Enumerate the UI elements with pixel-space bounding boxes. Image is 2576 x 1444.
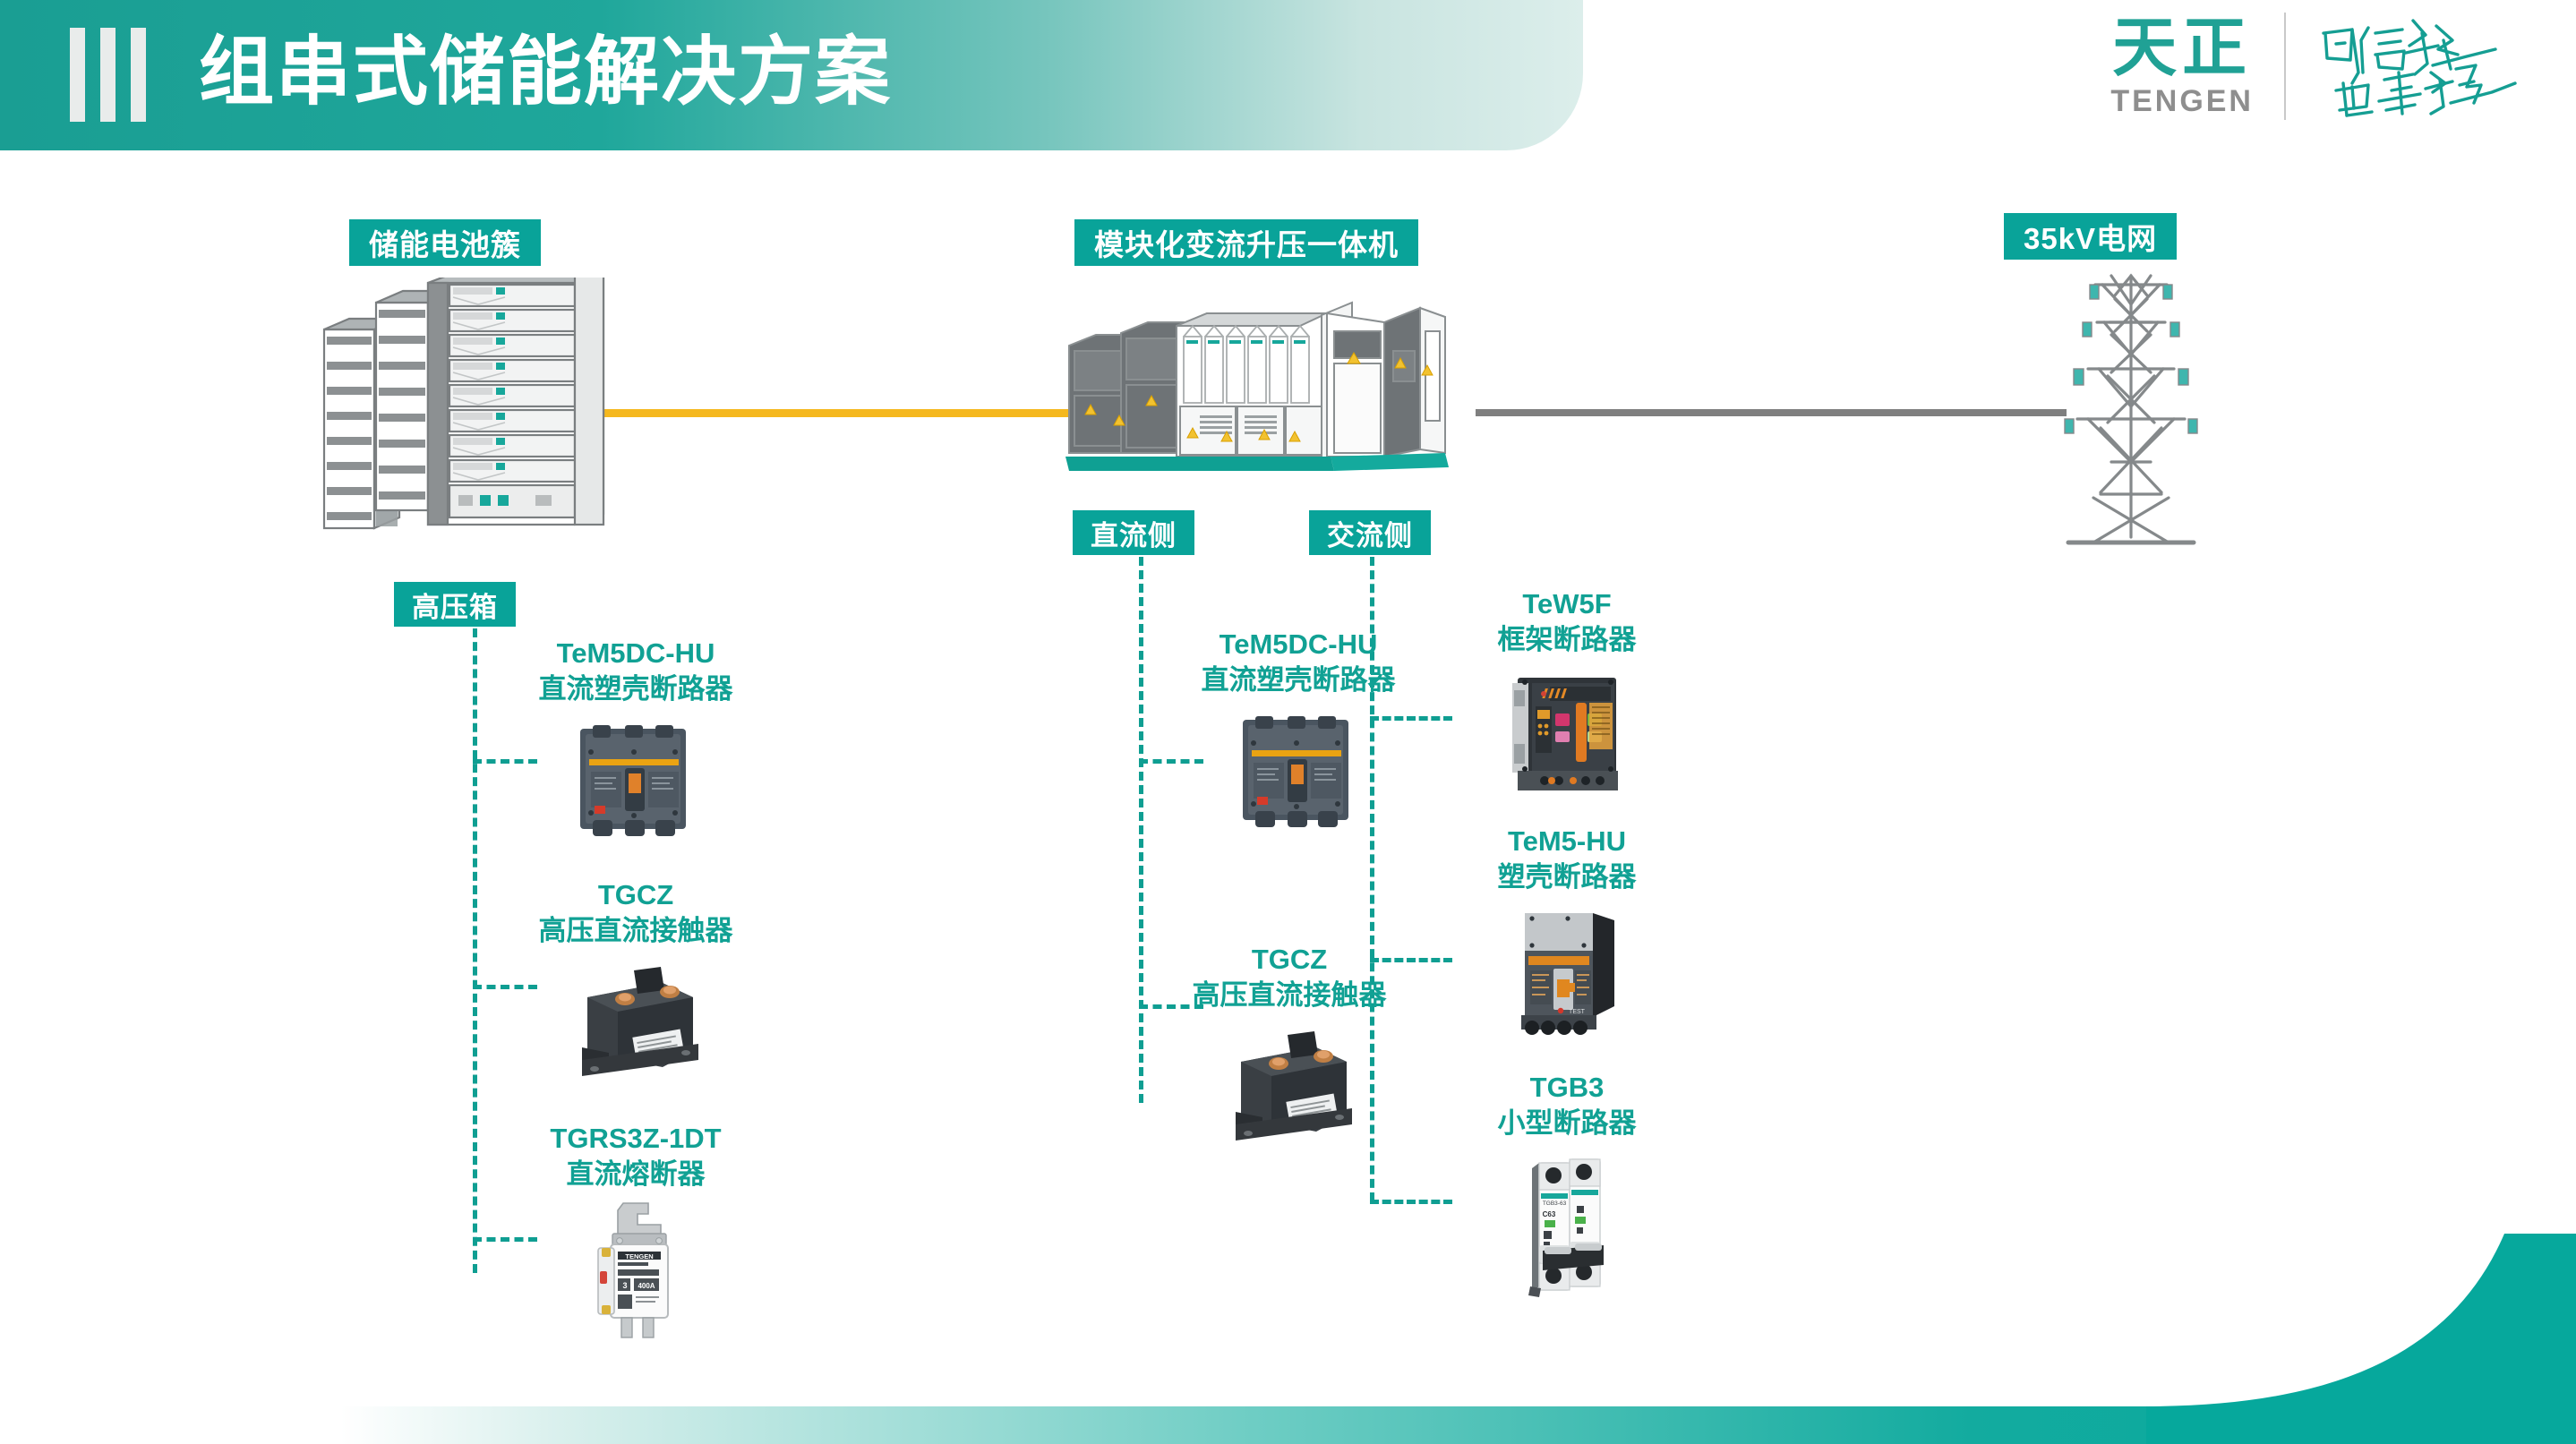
- brand-slogan-handwriting: [2316, 13, 2522, 119]
- bottom-right-corner-decoration: [2146, 1234, 2576, 1444]
- page-header: 组串式储能解决方案: [0, 0, 1583, 150]
- product-model: TeM5DC-HU: [501, 636, 770, 671]
- label-high-voltage-box: 高压箱: [394, 582, 516, 627]
- slide-canvas: 组串式储能解决方案 天正 TENGEN: [0, 0, 2576, 1444]
- product-model: TGCZ: [1155, 942, 1424, 978]
- product-description: 直流塑壳断路器: [1164, 662, 1433, 698]
- product-card[interactable]: TGCZ 高压直流接触器: [501, 877, 770, 1093]
- ac-bus-line: [1476, 409, 2067, 416]
- page-title: 组串式储能解决方案: [199, 21, 892, 122]
- label-battery-cluster: 储能电池簇: [349, 219, 541, 266]
- dc-column-trunk: [1139, 557, 1143, 1103]
- logo-english-name: TENGEN: [2110, 83, 2254, 119]
- product-description: 小型断路器: [1442, 1106, 1692, 1141]
- svg-text:3: 3: [622, 1281, 627, 1290]
- logo-chinese-name: 天正: [2112, 13, 2252, 83]
- svg-text:TGB3-63: TGB3-63: [1543, 1200, 1567, 1207]
- product-description: 直流塑壳断路器: [501, 671, 770, 707]
- three-bars-icon: [70, 28, 146, 122]
- converter-container-illustration: [1065, 295, 1486, 506]
- product-card[interactable]: TeM5DC-HU 直流塑壳断路器: [1164, 627, 1433, 842]
- product-model: TeM5DC-HU: [1164, 627, 1433, 662]
- dc-mccb-icon: [501, 713, 770, 851]
- battery-cluster-illustration: [322, 278, 609, 577]
- label-ac-side: 交流侧: [1309, 510, 1431, 555]
- battery-column-trunk: [473, 628, 477, 1273]
- svg-text:TEST: TEST: [1569, 1009, 1586, 1015]
- label-grid: 35kV电网: [2004, 213, 2177, 260]
- product-description: 框架断路器: [1442, 622, 1692, 658]
- svg-text:400A: 400A: [638, 1282, 655, 1290]
- ac-branch-3: [1370, 1200, 1452, 1204]
- label-converter: 模块化变流升压一体机: [1074, 219, 1418, 266]
- product-card[interactable]: TGRS3Z-1DT 直流熔断器 TENGEN 3 400A: [501, 1121, 770, 1346]
- brand-logo: 天正 TENGEN: [2110, 13, 2522, 120]
- dc-mccb-icon: [1164, 704, 1433, 842]
- product-description: 塑壳断路器: [1442, 859, 1692, 895]
- mccb-icon: TEST: [1442, 901, 1692, 1048]
- svg-text:C63: C63: [1543, 1210, 1556, 1218]
- label-dc-side: 直流侧: [1073, 510, 1194, 555]
- logo-divider: [2284, 13, 2286, 120]
- product-description: 高压直流接触器: [501, 913, 770, 949]
- product-description: 直流熔断器: [501, 1157, 770, 1192]
- transmission-tower-illustration: [2033, 269, 2229, 560]
- mcb-icon: TGB3-63 C63: [1442, 1147, 1692, 1308]
- dc-contactor-icon: [1155, 1019, 1424, 1158]
- product-card[interactable]: TeM5-HU 塑壳断路器 TEST: [1442, 824, 1692, 1048]
- product-model: TGB3: [1442, 1070, 1692, 1106]
- product-card[interactable]: TGCZ 高压直流接触器: [1155, 942, 1424, 1158]
- svg-text:TENGEN: TENGEN: [625, 1252, 653, 1260]
- dc-bus-line: [582, 409, 1083, 417]
- logo-mark: 天正 TENGEN: [2110, 13, 2254, 119]
- product-model: TGCZ: [501, 877, 770, 913]
- product-model: TeW5F: [1442, 586, 1692, 622]
- dc-fuse-icon: TENGEN 3 400A: [501, 1198, 770, 1346]
- product-model: TGRS3Z-1DT: [501, 1121, 770, 1157]
- product-description: 高压直流接触器: [1155, 978, 1424, 1013]
- product-card[interactable]: TGB3 小型断路器 TGB3-63 C63: [1442, 1070, 1692, 1308]
- dc-contactor-icon: [501, 954, 770, 1093]
- product-card[interactable]: TeM5DC-HU 直流塑壳断路器: [501, 636, 770, 851]
- product-card[interactable]: TeW5F 框架断路器: [1442, 586, 1692, 802]
- acb-icon: [1442, 663, 1692, 802]
- product-model: TeM5-HU: [1442, 824, 1692, 859]
